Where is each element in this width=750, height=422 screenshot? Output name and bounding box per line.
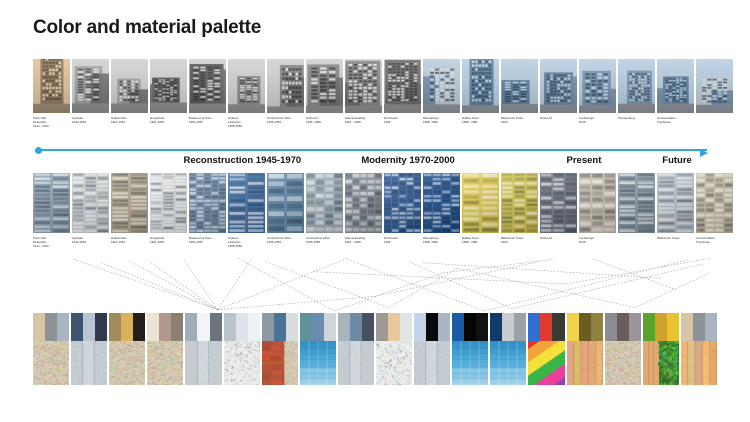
photo-caption: Central Post office 1955-1959	[306, 236, 343, 244]
building-photo[interactable]	[150, 173, 187, 233]
photo-caption: Central Post office 1955-1959	[267, 116, 304, 124]
photo-cell[interactable]	[696, 59, 733, 128]
swatch-material-texture	[490, 341, 526, 385]
material-swatch[interactable]	[109, 313, 145, 385]
swatch-color-band	[617, 313, 629, 341]
swatch-color-band	[426, 313, 438, 341]
material-texture-image	[262, 341, 298, 385]
material-texture-image	[33, 341, 69, 385]
material-texture-image	[567, 341, 603, 385]
photo-cell[interactable]: Millennium Tower 2000	[501, 173, 538, 248]
photo-cell[interactable]: De Doelen 1966	[384, 173, 421, 248]
material-texture-image	[185, 341, 221, 385]
swatch-color-band	[121, 313, 133, 341]
swatch-color-band	[528, 313, 540, 341]
building-photo[interactable]	[579, 59, 616, 113]
material-swatch[interactable]	[490, 313, 526, 385]
photo-caption: Weenatoren 1988 -1990	[423, 236, 460, 244]
swatch-material-texture	[414, 341, 450, 385]
material-swatch[interactable]	[71, 313, 107, 385]
material-texture-image	[300, 341, 336, 385]
building-photo[interactable]	[345, 173, 382, 233]
material-swatch[interactable]	[452, 313, 488, 385]
photo-cell[interactable]: Central Post office 1955-1959	[267, 59, 304, 128]
swatch-color-bands	[33, 313, 69, 341]
swatch-material-texture	[643, 341, 679, 385]
material-swatch[interactable]	[262, 313, 298, 385]
connector-line	[238, 258, 334, 311]
swatch-color-band	[71, 313, 83, 341]
swatch-color-bands	[338, 313, 374, 341]
swatch-color-band	[133, 313, 145, 341]
photo-cell[interactable]: Central Post office 1955-1959	[306, 173, 343, 248]
swatch-color-band	[376, 313, 388, 341]
building-photo[interactable]	[501, 59, 538, 113]
photo-cell[interactable]: Unilever extension 1955-1959	[228, 173, 265, 248]
building-photo[interactable]	[33, 59, 70, 113]
swatch-color-band	[147, 313, 159, 341]
connector-line	[635, 273, 710, 308]
photo-caption: Boekman & Sons 1954-1957	[189, 236, 226, 244]
swatch-color-bands	[567, 313, 603, 341]
material-swatch[interactable]	[528, 313, 564, 385]
photo-cell[interactable]: Luchtsingel 2015	[579, 59, 616, 128]
material-swatch[interactable]	[643, 313, 679, 385]
swatch-material-texture	[224, 341, 260, 385]
photo-caption: Hofpoort I 1956 -1960	[306, 116, 343, 124]
material-swatch[interactable]	[185, 313, 221, 385]
building-photo[interactable]	[696, 59, 733, 113]
swatch-color-band	[705, 313, 717, 341]
photo-cell[interactable]: Weenatoren 1988 -1990	[423, 173, 460, 248]
connector-line	[313, 272, 566, 284]
building-photo[interactable]	[462, 173, 499, 233]
photo-cell[interactable]: Lijnbaan 1949-1953	[72, 59, 109, 128]
material-texture-image	[71, 341, 107, 385]
swatch-color-bands	[71, 313, 107, 341]
swatch-material-texture	[376, 341, 412, 385]
building-photo[interactable]	[150, 59, 187, 113]
swatch-color-band	[262, 313, 274, 341]
connector-line	[218, 296, 375, 309]
swatch-color-bands	[147, 313, 183, 341]
photo-caption: Weenatoren 1988 -1990	[423, 116, 460, 124]
swatch-color-bands	[452, 313, 488, 341]
swatch-material-texture	[33, 341, 69, 385]
swatch-color-band	[33, 313, 45, 341]
photo-cell[interactable]: Luchtsingel 2015	[579, 173, 616, 248]
swatch-color-band	[579, 313, 591, 341]
swatch-material-texture	[338, 341, 374, 385]
connector-line	[74, 259, 218, 309]
photo-caption: Delftse Poort 1988 - 1991	[462, 236, 499, 244]
photo-cell[interactable]: Street Art	[540, 59, 577, 128]
building-photo[interactable]	[306, 59, 343, 113]
material-swatch[interactable]	[567, 313, 603, 385]
photo-caption: Weena building 1961 - 1968	[345, 116, 382, 124]
timeline-period-label: Modernity 1970-2000	[361, 155, 454, 166]
building-photo[interactable]	[72, 59, 109, 113]
building-photo[interactable]	[345, 59, 382, 113]
photo-cell[interactable]: De Doelen 1966	[384, 59, 421, 128]
material-texture-image	[414, 341, 450, 385]
connector-line	[409, 262, 512, 309]
swatch-color-band	[693, 313, 705, 341]
swatch-color-band	[236, 313, 248, 341]
photo-cell[interactable]: Millennium Tower	[657, 173, 694, 248]
building-photo[interactable]	[462, 59, 499, 113]
swatch-material-texture	[147, 341, 183, 385]
photo-caption: Central station Treehouse	[657, 116, 694, 124]
swatch-color-band	[83, 313, 95, 341]
photo-caption: Weena building 1961 - 1968	[345, 236, 382, 244]
timeline-period-label: Reconstruction 1945-1970	[183, 155, 301, 166]
swatch-color-bands	[528, 313, 564, 341]
connector-line	[484, 259, 689, 311]
timeline-arrow-icon	[700, 149, 708, 157]
photo-caption: Holbeinhuis 1951-1954	[111, 116, 148, 124]
swatch-color-band	[400, 313, 412, 341]
photo-caption: Street Art	[540, 116, 577, 120]
photo-caption: Lijnbaan 1949-1953	[72, 236, 109, 244]
building-photo[interactable]	[306, 173, 343, 233]
building-photo[interactable]	[228, 59, 265, 113]
swatch-material-texture	[452, 341, 488, 385]
photo-cell[interactable]: Weenatoren 1988 -1990	[423, 59, 460, 128]
building-photo[interactable]	[540, 173, 577, 233]
building-photo[interactable]	[579, 173, 616, 233]
swatch-color-band	[490, 313, 502, 341]
material-swatch[interactable]	[300, 313, 336, 385]
material-texture-image	[452, 341, 488, 385]
photo-caption: Luchtsingel 2015	[579, 236, 616, 244]
photo-caption: Street Art	[540, 236, 577, 240]
swatch-color-band	[464, 313, 476, 341]
historic-photo-strip: Town Hall Rotterdam 1914 - 1920Lijnbaan …	[33, 59, 717, 128]
material-texture-image	[605, 341, 641, 385]
swatch-color-band	[197, 313, 209, 341]
photo-cell[interactable]: Delftse Poort 1988 - 1991	[462, 59, 499, 128]
swatch-material-texture	[262, 341, 298, 385]
photo-caption: Delftse Poort 1988 - 1991	[462, 116, 499, 124]
swatch-material-texture	[185, 341, 221, 385]
swatch-color-band	[350, 313, 362, 341]
building-photo[interactable]	[189, 173, 226, 233]
photo-cell[interactable]: Central station Treehouse	[696, 173, 733, 248]
photo-caption: Hoogstraat 1951-1953	[150, 116, 187, 124]
swatch-color-band	[629, 313, 641, 341]
connector-line	[218, 258, 348, 310]
material-swatch[interactable]	[414, 313, 450, 385]
connector-lines	[33, 256, 717, 312]
building-photo[interactable]	[267, 59, 304, 113]
building-photo[interactable]	[267, 173, 304, 233]
material-texture-image	[224, 341, 260, 385]
material-texture-image	[490, 341, 526, 385]
photo-caption: Unilever extension 1955-1959	[228, 116, 265, 128]
swatch-color-band	[210, 313, 222, 341]
building-photo[interactable]	[384, 59, 421, 113]
swatch-color-bands	[262, 313, 298, 341]
material-swatch[interactable]	[681, 313, 717, 385]
building-photo[interactable]	[657, 173, 694, 233]
swatch-color-band	[95, 313, 107, 341]
connector-line	[218, 259, 252, 310]
material-texture-image	[376, 341, 412, 385]
material-swatch[interactable]	[376, 313, 412, 385]
swatch-color-band	[591, 313, 603, 341]
photo-cell[interactable]: Hofpoort I 1956 -1960	[306, 59, 343, 128]
photo-cell[interactable]: Central Post office 1955-1959	[267, 173, 304, 248]
photo-caption: Pompenburg	[618, 116, 655, 120]
building-photo[interactable]	[33, 173, 70, 233]
swatch-color-band	[248, 313, 260, 341]
swatch-color-band	[324, 313, 336, 341]
material-texture-image	[643, 341, 679, 385]
swatch-color-band	[286, 313, 298, 341]
swatch-material-texture	[681, 341, 717, 385]
material-texture-image	[147, 341, 183, 385]
material-texture-image	[338, 341, 374, 385]
photo-cell[interactable]: Central station Treehouse	[657, 59, 694, 128]
photo-caption: Central station Treehouse	[696, 236, 733, 244]
photo-cell[interactable]: Millennium Tower 2000	[501, 59, 538, 128]
swatch-color-band	[338, 313, 350, 341]
building-photo[interactable]	[696, 173, 733, 233]
swatch-color-band	[185, 313, 197, 341]
building-photo[interactable]	[111, 173, 148, 233]
photo-caption: Unilever extension 1955-1959	[228, 236, 265, 248]
swatch-color-bands	[643, 313, 679, 341]
photo-caption: Luchtsingel 2015	[579, 116, 616, 124]
swatch-color-band	[605, 313, 617, 341]
photo-caption: Millennium Tower 2000	[501, 236, 538, 244]
connector-line	[389, 268, 457, 307]
timeline: Reconstruction 1945-1970Modernity 1970-2…	[33, 146, 717, 168]
connector-line	[567, 258, 711, 284]
swatch-color-bands	[414, 313, 450, 341]
swatch-color-band	[300, 313, 312, 341]
photo-cell[interactable]: Town Hall Rotterdam 1914 - 1920	[33, 173, 70, 248]
timeline-period-label: Future	[662, 155, 692, 166]
building-photo[interactable]	[384, 173, 421, 233]
slide-canvas: Color and material palette Town Hall Rot…	[0, 0, 750, 422]
photo-cell[interactable]: Street Art	[540, 173, 577, 248]
photo-cell[interactable]	[618, 173, 655, 248]
photo-caption: De Doelen 1966	[384, 116, 421, 124]
swatch-color-band	[655, 313, 667, 341]
swatch-color-band	[643, 313, 655, 341]
material-swatch[interactable]	[605, 313, 641, 385]
photo-cell[interactable]: Boekman & Sons 1954-1957	[189, 59, 226, 128]
photo-cell[interactable]: Weena building 1961 - 1968	[345, 173, 382, 248]
photo-caption: Holbeinhuis 1951-1954	[111, 236, 148, 244]
swatch-color-band	[452, 313, 464, 341]
swatch-color-band	[362, 313, 374, 341]
swatch-color-band	[45, 313, 57, 341]
photo-cell[interactable]: Hoogstraat 1951-1953	[150, 173, 187, 248]
swatch-color-band	[414, 313, 426, 341]
photo-caption: Central Post office 1955-1959	[267, 236, 304, 244]
photo-cell[interactable]: Holbeinhuis 1951-1954	[111, 59, 148, 128]
swatch-color-band	[667, 313, 679, 341]
swatch-color-band	[502, 313, 514, 341]
swatch-color-band	[567, 313, 579, 341]
photo-caption: Town Hall Rotterdam 1914 - 1920	[33, 116, 70, 128]
swatch-color-band	[312, 313, 324, 341]
photo-caption: Lijnbaan 1949-1953	[72, 116, 109, 124]
material-swatch[interactable]	[224, 313, 260, 385]
swatch-color-bands	[300, 313, 336, 341]
connector-line	[334, 273, 443, 311]
building-photo[interactable]	[228, 173, 265, 233]
swatch-color-band	[159, 313, 171, 341]
swatch-color-band	[388, 313, 400, 341]
connector-line	[183, 259, 217, 309]
photo-caption: Hoogstraat 1951-1953	[150, 236, 187, 244]
swatch-color-bands	[185, 313, 221, 341]
swatch-color-band	[514, 313, 526, 341]
swatch-color-bands	[376, 313, 412, 341]
swatch-color-band	[171, 313, 183, 341]
photo-caption: Millennium Tower	[657, 236, 694, 240]
connector-line	[443, 259, 552, 272]
photo-cell[interactable]: Pompenburg	[618, 59, 655, 128]
swatch-color-bands	[224, 313, 260, 341]
photo-cell[interactable]: Town Hall Rotterdam 1914 - 1920	[33, 59, 70, 128]
swatch-color-band	[681, 313, 693, 341]
photo-cell[interactable]: Hoogstraat 1951-1953	[150, 59, 187, 128]
swatch-material-texture	[71, 341, 107, 385]
connector-line	[423, 263, 662, 279]
building-photo[interactable]	[423, 59, 460, 113]
swatch-material-texture	[300, 341, 336, 385]
swatch-material-texture	[109, 341, 145, 385]
connector-line	[348, 259, 485, 311]
building-photo[interactable]	[618, 59, 655, 113]
photo-cell[interactable]: Holbeinhuis 1951-1954	[111, 173, 148, 248]
photo-cell[interactable]: Unilever extension 1955-1959	[228, 59, 265, 128]
connector-line	[101, 263, 217, 310]
material-texture-image	[528, 341, 564, 385]
swatch-strip	[33, 313, 717, 385]
building-photo[interactable]	[618, 173, 655, 233]
photo-caption: Town Hall Rotterdam 1914 - 1920	[33, 236, 70, 248]
connector-line	[512, 264, 704, 309]
timeline-period-label: Present	[567, 155, 602, 166]
swatch-material-texture	[605, 341, 641, 385]
building-photo[interactable]	[189, 59, 226, 113]
building-photo[interactable]	[540, 59, 577, 113]
photo-cell[interactable]: Lijnbaan 1949-1953	[72, 173, 109, 248]
swatch-color-band	[476, 313, 488, 341]
photo-caption: Millennium Tower 2000	[501, 116, 538, 124]
photo-cell[interactable]: Boekman & Sons 1954-1957	[189, 173, 226, 248]
building-photo[interactable]	[501, 173, 538, 233]
swatch-color-bands	[681, 313, 717, 341]
timeline-line	[39, 149, 707, 151]
photo-cell[interactable]: Weena building 1961 - 1968	[345, 59, 382, 128]
building-photo[interactable]	[72, 173, 109, 233]
facade-photo-strip: Town Hall Rotterdam 1914 - 1920Lijnbaan …	[33, 173, 717, 248]
material-swatch[interactable]	[33, 313, 69, 385]
swatch-color-bands	[109, 313, 145, 341]
page-title: Color and material palette	[33, 17, 261, 39]
swatch-color-band	[540, 313, 552, 341]
swatch-material-texture	[528, 341, 564, 385]
photo-caption: Boekman & Sons 1954-1957	[189, 116, 226, 124]
swatch-material-texture	[567, 341, 603, 385]
building-photo[interactable]	[111, 59, 148, 113]
swatch-color-bands	[605, 313, 641, 341]
connector-line	[129, 260, 218, 309]
material-texture-image	[681, 341, 717, 385]
material-texture-image	[109, 341, 145, 385]
swatch-color-band	[109, 313, 121, 341]
swatch-color-band	[438, 313, 450, 341]
swatch-color-band	[274, 313, 286, 341]
swatch-color-band	[224, 313, 236, 341]
material-swatch[interactable]	[147, 313, 183, 385]
swatch-color-band	[552, 313, 564, 341]
connector-line	[457, 268, 635, 307]
material-swatch[interactable]	[338, 313, 374, 385]
building-photo[interactable]	[657, 59, 694, 113]
connector-line	[149, 262, 217, 310]
photo-caption: De Doelen 1966	[384, 236, 421, 244]
swatch-color-bands	[490, 313, 526, 341]
swatch-color-band	[57, 313, 69, 341]
photo-cell[interactable]: Delftse Poort 1988 - 1991	[462, 173, 499, 248]
building-photo[interactable]	[423, 173, 460, 233]
